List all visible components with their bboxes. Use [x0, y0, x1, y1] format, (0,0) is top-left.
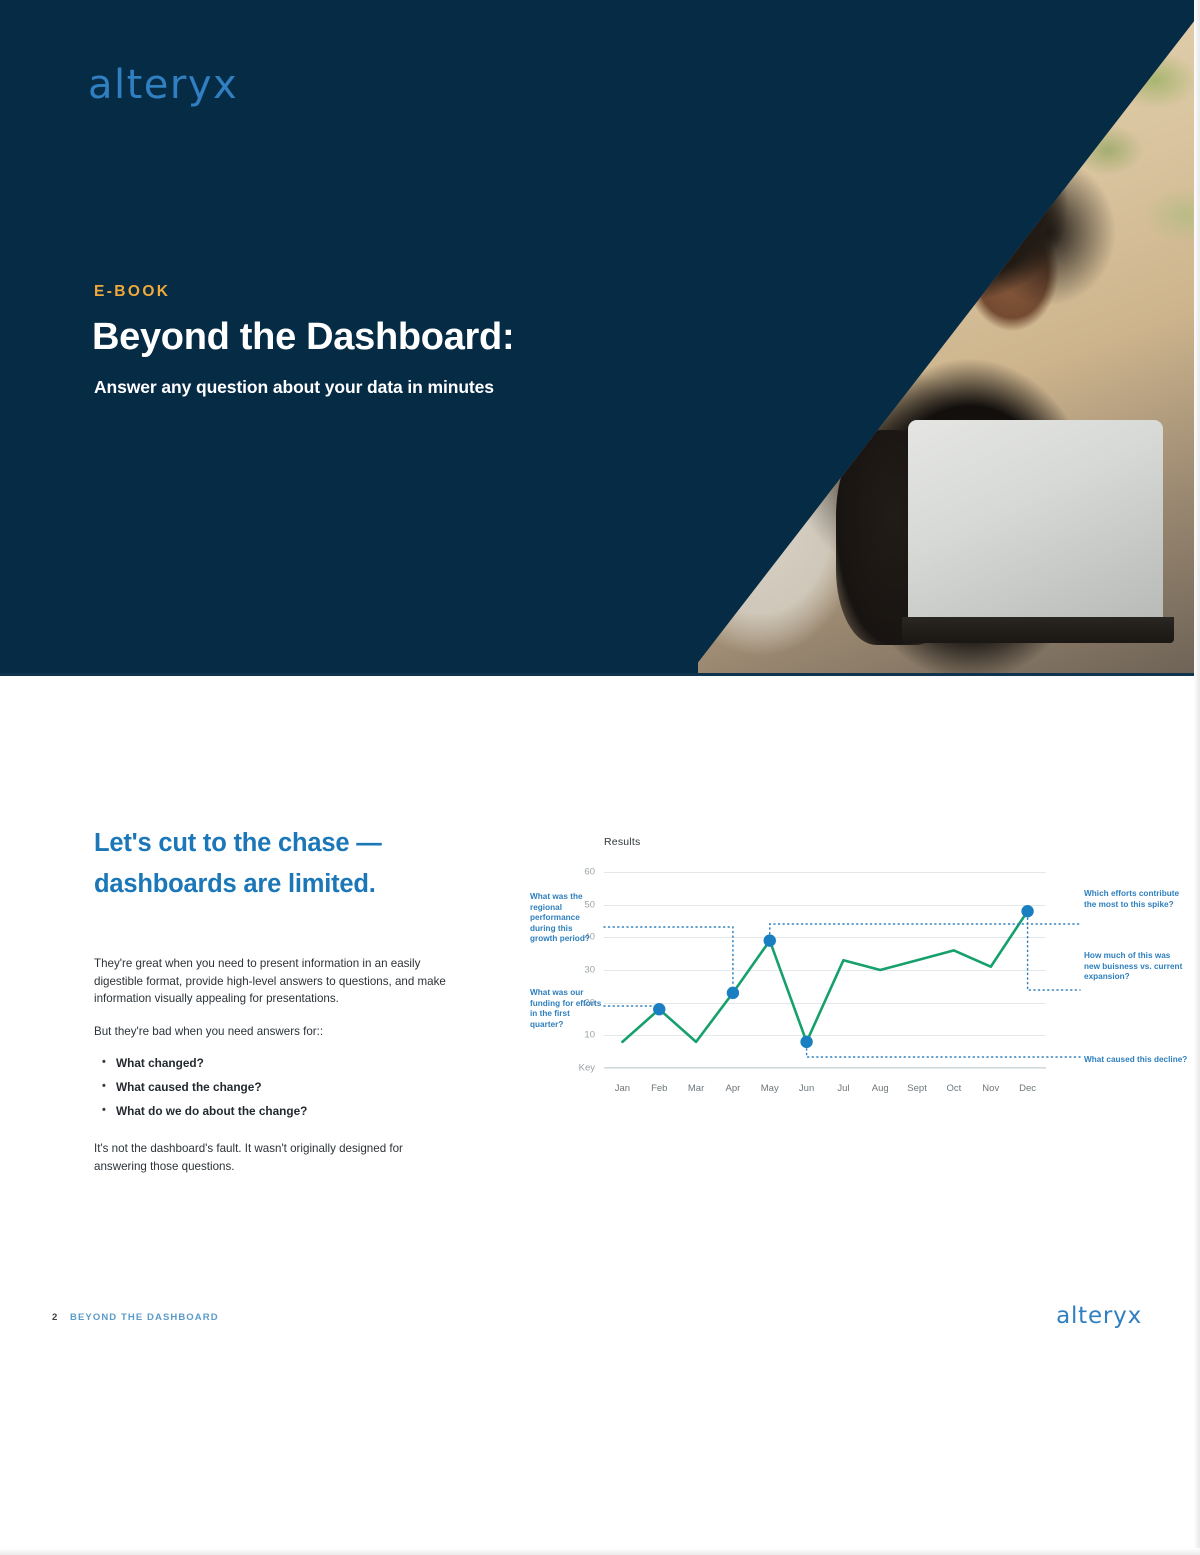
footer-doc-label: BEYOND THE DASHBOARD — [70, 1312, 219, 1323]
list-item: What do we do about the change? — [94, 1103, 446, 1119]
alteryx-logo: alteryx — [88, 62, 238, 108]
hero-divider — [0, 673, 1200, 676]
list-item: What caused the change? — [94, 1079, 446, 1095]
laptop-lid — [908, 420, 1163, 630]
leader-new-vs-expansion — [1028, 918, 1080, 990]
results-chart: Results Key102030405060 JanFebMarAprMayJ… — [520, 836, 1192, 1116]
leader-regional-performance — [604, 927, 733, 986]
paragraph-3: It's not the dashboard's fault. It wasn'… — [94, 1140, 446, 1175]
leader-funding-first-quarter — [604, 1002, 659, 1006]
hero-banner: alteryx E-BOOK Beyond the Dashboard: Ans… — [0, 0, 1200, 676]
hero-subtitle: Answer any question about your data in m… — [94, 377, 494, 398]
page-edge-bottom — [0, 1548, 1200, 1555]
paragraph-1: They're great when you need to present i… — [94, 955, 446, 1008]
annotation-regional-performance: What was the regional performance during… — [530, 892, 602, 945]
section-headline: Let's cut to the chase — dashboards are … — [94, 823, 494, 905]
question-bullet-list: What changed? What caused the change? Wh… — [94, 1055, 446, 1119]
annotation-new-vs-expansion: How much of this was new buisness vs. cu… — [1084, 951, 1188, 983]
ebook-page: alteryx E-BOOK Beyond the Dashboard: Ans… — [0, 0, 1200, 1555]
hero-eyebrow: E-BOOK — [94, 283, 170, 301]
laptop-base — [902, 617, 1174, 643]
page-title: Beyond the Dashboard: — [92, 316, 514, 359]
body-copy: They're great when you need to present i… — [94, 955, 446, 1175]
paragraph-2: But they're bad when you need answers fo… — [94, 1023, 446, 1041]
leader-decline-cause — [807, 1049, 1080, 1057]
footer-alteryx-logo: alteryx — [1056, 1303, 1142, 1329]
hero-photo — [640, 0, 1200, 676]
leader-spike-contribution — [770, 924, 1080, 934]
annotation-spike-contribution: Which efforts contribute the most to thi… — [1084, 889, 1188, 910]
list-item: What changed? — [94, 1055, 446, 1071]
footer-page-number: 2 — [52, 1312, 57, 1323]
page-edge-right — [1194, 0, 1200, 1555]
annotation-funding-first-quarter: What was our funding for efforts in the … — [530, 988, 602, 1030]
annotation-decline-cause: What caused this decline? — [1084, 1055, 1188, 1066]
